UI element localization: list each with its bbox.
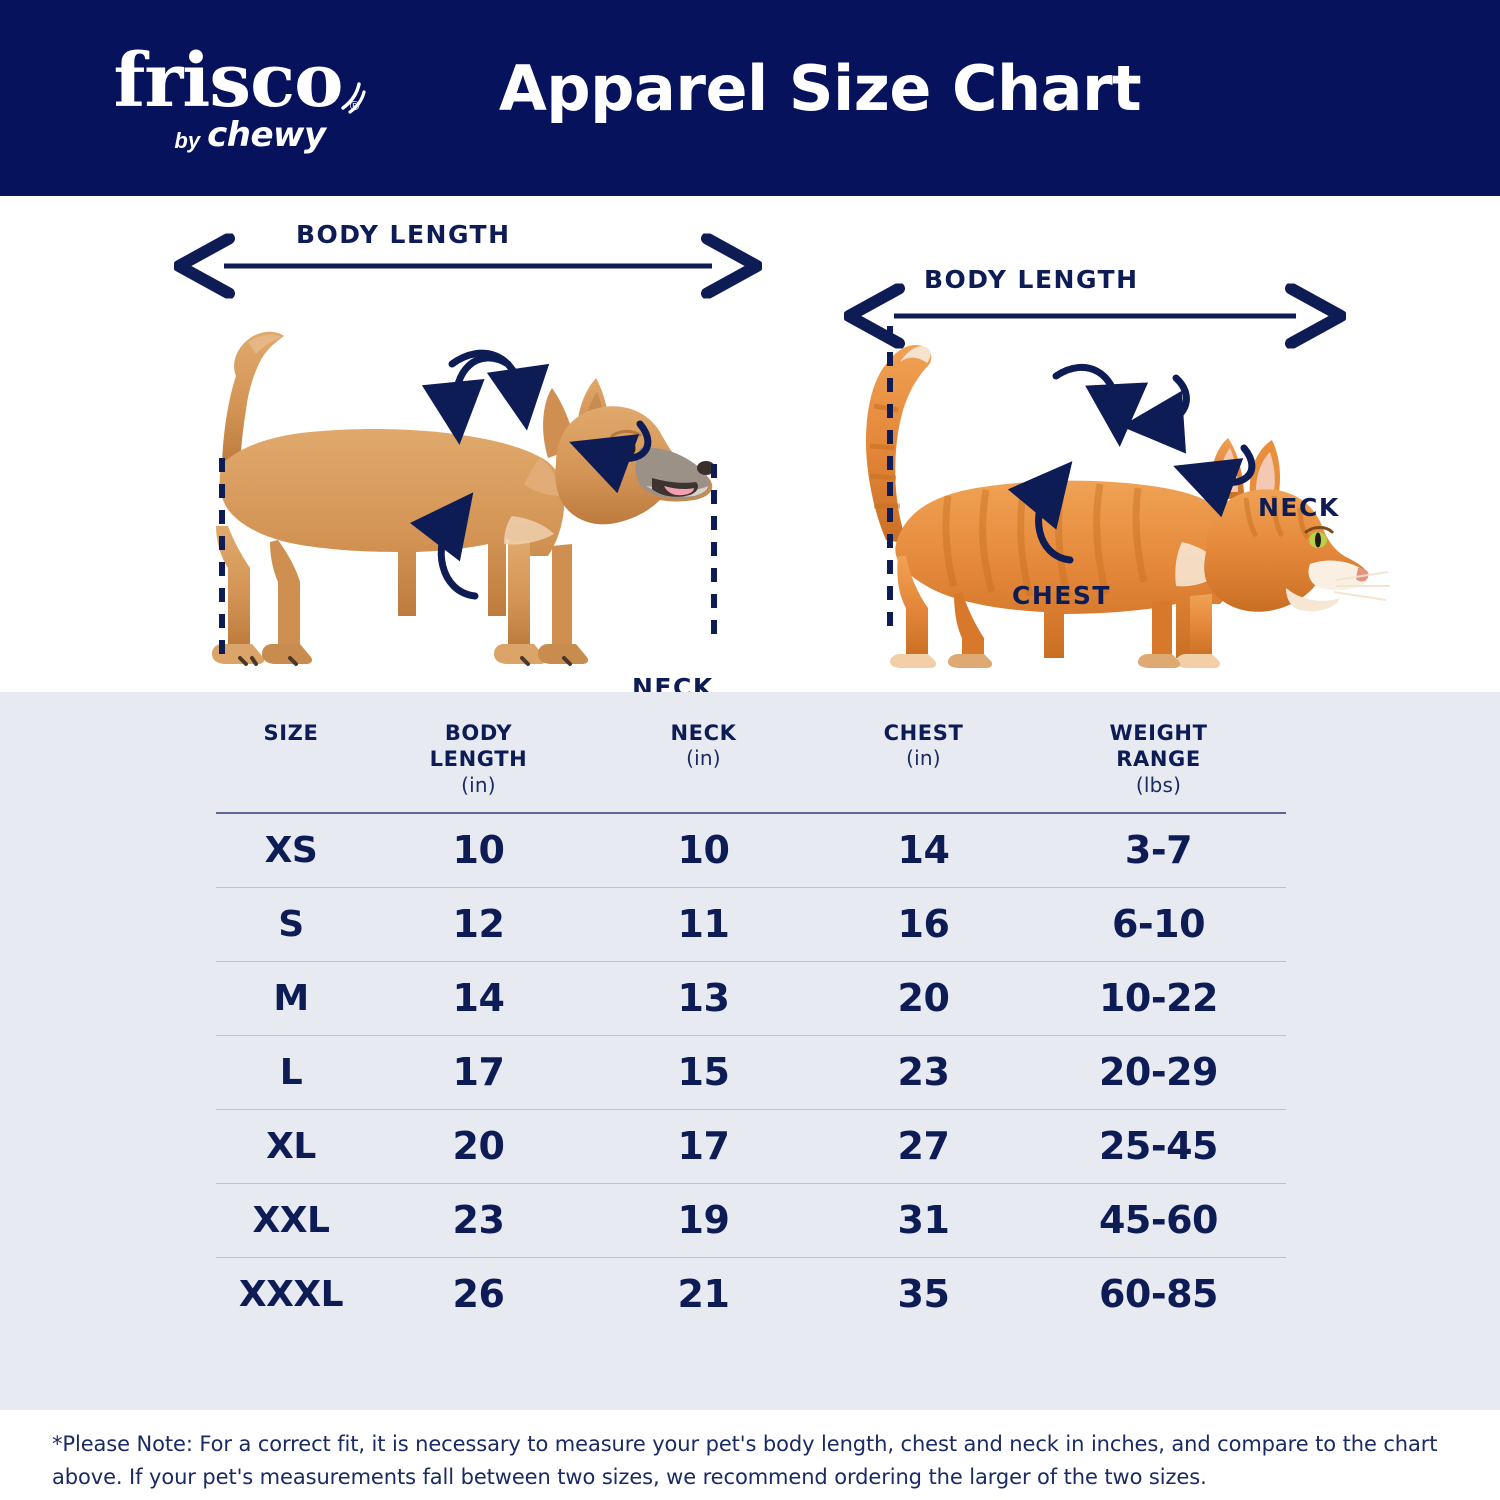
header-row: SIZE BODY LENGTH (in) NECK (in) CHEST (i… (216, 720, 1286, 813)
size-table-section: SIZE BODY LENGTH (in) NECK (in) CHEST (i… (0, 692, 1500, 1410)
illustration-canvas: BODY LENGTH CHEST NECK (0, 196, 1500, 692)
cat-front-leg-far (1152, 600, 1172, 658)
table-row: XXXL 26 21 35 60-85 (216, 1257, 1286, 1331)
cell-size: XXL (216, 1183, 366, 1257)
dog-front-leg-far (552, 544, 572, 646)
column-header-chest: CHEST (in) (816, 720, 1031, 813)
cell-neck: 10 (591, 813, 816, 888)
dog-neck-arrow-left (456, 358, 508, 410)
table-row: XL 20 17 27 25-45 (216, 1109, 1286, 1183)
cell-chest: 27 (816, 1109, 1031, 1183)
cat-chest-label: CHEST (1012, 581, 1111, 610)
cell-neck: 17 (591, 1109, 816, 1183)
page-title: Apparel Size Chart (0, 52, 1500, 125)
dog-head (543, 378, 715, 524)
column-header-size-label: SIZE (264, 721, 319, 745)
cell-weight-range: 20-29 (1031, 1035, 1286, 1109)
size-table-header: SIZE BODY LENGTH (in) NECK (in) CHEST (i… (216, 720, 1286, 813)
dog-illustration: BODY LENGTH CHEST NECK (212, 220, 715, 692)
cell-size: XS (216, 813, 366, 888)
column-header-neck-label: NECK (670, 721, 736, 745)
cell-neck: 11 (591, 887, 816, 961)
cell-chest: 31 (816, 1183, 1031, 1257)
column-header-body-length-unit: (in) (366, 773, 591, 798)
cell-weight-range: 25-45 (1031, 1109, 1286, 1183)
cell-weight-range: 10-22 (1031, 961, 1286, 1035)
size-table: SIZE BODY LENGTH (in) NECK (in) CHEST (i… (216, 720, 1286, 1331)
cell-size: XXXL (216, 1257, 366, 1331)
column-header-neck-unit: (in) (591, 746, 816, 771)
table-row: XXL 23 19 31 45-60 (216, 1183, 1286, 1257)
dog-rear-leg-far (270, 540, 300, 646)
size-chart-page: frisco ® by chewy Apparel Size Chart (0, 0, 1500, 1500)
page-header: frisco ® by chewy Apparel Size Chart (0, 0, 1500, 196)
cell-size: M (216, 961, 366, 1035)
table-row: S 12 11 16 6-10 (216, 887, 1286, 961)
cat-head (1204, 438, 1390, 612)
cell-body-length: 23 (366, 1183, 591, 1257)
footnote-text: *Please Note: For a correct fit, it is n… (52, 1428, 1452, 1493)
table-row: XS 10 10 14 3-7 (216, 813, 1286, 888)
column-header-size: SIZE (216, 720, 366, 813)
size-table-body: XS 10 10 14 3-7 S 12 11 16 6-10 M 14 13 (216, 813, 1286, 1331)
column-header-chest-label: CHEST (884, 721, 964, 745)
cell-neck: 19 (591, 1183, 816, 1257)
cell-body-length: 14 (366, 961, 591, 1035)
cell-body-length: 26 (366, 1257, 591, 1331)
column-header-weight-line1: WEIGHT (1109, 721, 1207, 745)
cat-front-leg (1190, 594, 1212, 658)
cell-neck: 13 (591, 961, 816, 1035)
cell-chest: 23 (816, 1035, 1031, 1109)
cell-weight-range: 3-7 (1031, 813, 1286, 888)
cell-body-length: 12 (366, 887, 591, 961)
column-header-chest-unit: (in) (816, 746, 1031, 771)
cell-chest: 14 (816, 813, 1031, 888)
column-header-neck: NECK (in) (591, 720, 816, 813)
cell-chest: 20 (816, 961, 1031, 1035)
dog-front-leg (508, 540, 530, 646)
table-row: L 17 15 23 20-29 (216, 1035, 1286, 1109)
cell-neck: 21 (591, 1257, 816, 1331)
cell-body-length: 10 (366, 813, 591, 888)
cat-neck-arrow-right (1156, 378, 1186, 424)
dog-paws (212, 644, 588, 664)
cell-chest: 35 (816, 1257, 1031, 1331)
cell-weight-range: 6-10 (1031, 887, 1286, 961)
cell-chest: 16 (816, 887, 1031, 961)
column-header-weight-range: WEIGHT RANGE (lbs) (1031, 720, 1286, 813)
cell-body-length: 17 (366, 1035, 591, 1109)
table-row: M 14 13 20 10-22 (216, 961, 1286, 1035)
cell-weight-range: 45-60 (1031, 1183, 1286, 1257)
column-header-weight-unit: (lbs) (1031, 773, 1286, 798)
dog-body-length-label: BODY LENGTH (296, 220, 511, 249)
logo-by-text: by (174, 130, 200, 152)
column-header-weight-line2: RANGE (1116, 747, 1201, 771)
cell-size: XL (216, 1109, 366, 1183)
dog-neck-label: NECK (632, 673, 714, 692)
cell-size: L (216, 1035, 366, 1109)
measurement-illustrations: BODY LENGTH CHEST NECK (0, 196, 1500, 692)
column-header-body-length: BODY LENGTH (in) (366, 720, 591, 813)
cat-neck-arrow-upper (1056, 367, 1118, 412)
cat-neck-label: NECK (1258, 493, 1340, 522)
cell-neck: 15 (591, 1035, 816, 1109)
cell-weight-range: 60-85 (1031, 1257, 1286, 1331)
footnote-section: *Please Note: For a correct fit, it is n… (0, 1410, 1500, 1500)
column-header-body-length-line2: LENGTH (430, 747, 528, 771)
cat-illustration: BODY LENGTH CHEST NECK (866, 265, 1390, 668)
cell-size: S (216, 887, 366, 961)
cell-body-length: 20 (366, 1109, 591, 1183)
column-header-body-length-line1: BODY (445, 721, 512, 745)
cat-body-length-label: BODY LENGTH (924, 265, 1139, 294)
